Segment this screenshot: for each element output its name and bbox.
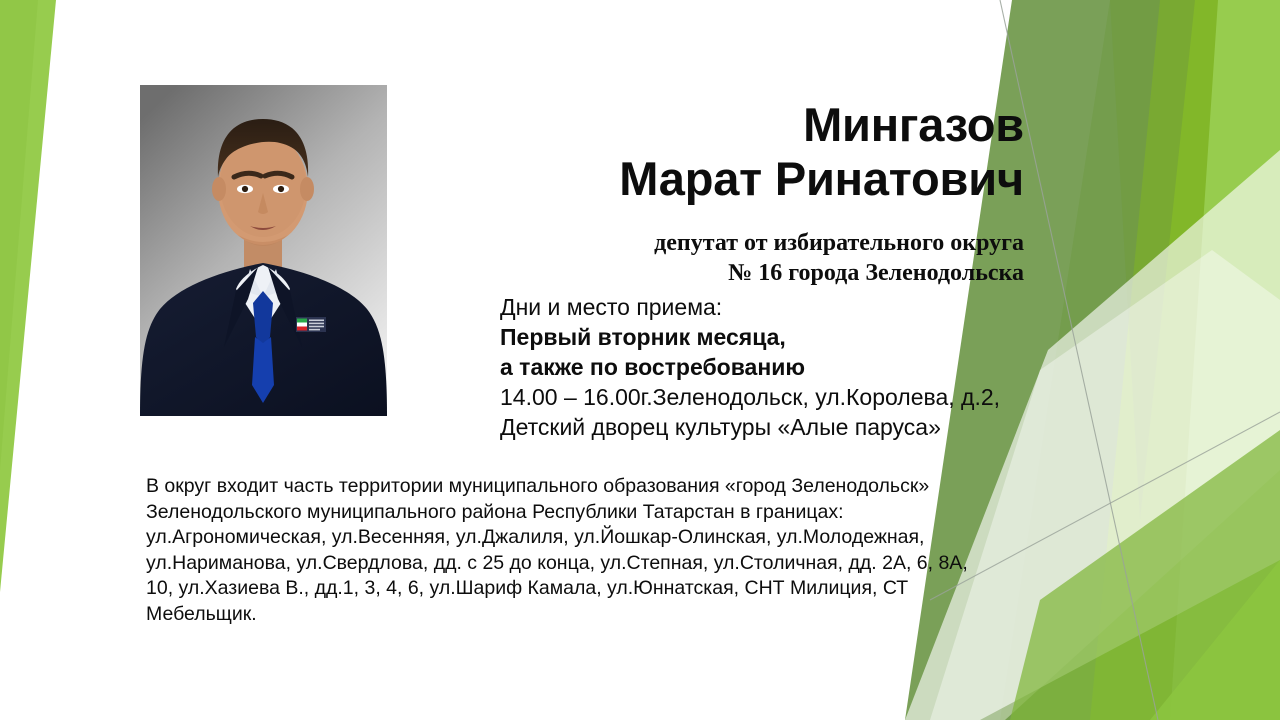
district-line: 10, ул.Хазиева В., дд.1, 3, 4, 6, ул.Шар… [146, 576, 1026, 602]
page-title: Мингазов Марат Ринатович [464, 98, 1024, 206]
right-green-foot [1150, 560, 1280, 720]
right-green-outer-band [1170, 0, 1280, 720]
subtitle-line-2: № 16 города Зеленодольска [464, 258, 1024, 288]
right-green-dark-triangle [1110, 0, 1195, 520]
reception-day-line-1: Первый вторник месяца, [500, 322, 1060, 352]
right-mid-green-slab [1010, 430, 1280, 720]
reception-heading: Дни и место приема: [500, 292, 1060, 322]
district-line: Мебельщик. [146, 602, 1026, 628]
subtitle-line-1: депутат от избирательного округа [464, 228, 1024, 258]
reception-day-line-2: а также по востребованию [500, 352, 1060, 382]
reception-info: Дни и место приема: Первый вторник месяц… [500, 292, 1060, 442]
title-surname: Мингазов [464, 98, 1024, 152]
district-line: Зеленодольского муниципального района Ре… [146, 500, 1026, 526]
district-description: В округ входит часть территории муниципа… [146, 474, 1026, 627]
reception-time-place: 14.00 – 16.00г.Зеленодольск, ул.Королева… [500, 382, 1060, 412]
left-green-wedge [0, 0, 56, 592]
district-line: В округ входит часть территории муниципа… [146, 474, 1026, 500]
district-line: ул.Агрономическая, ул.Весенняя, ул.Джали… [146, 525, 1026, 551]
left-green-wedge-inner [0, 0, 38, 470]
deputy-badge [296, 317, 326, 332]
portrait-photo [140, 85, 387, 416]
reception-venue: Детский дворец культуры «Алые паруса» [500, 412, 1060, 442]
slide-canvas: Мингазов Марат Ринатович депутат от изби… [0, 0, 1280, 720]
district-line: ул.Нариманова, ул.Свердлова, дд. с 25 до… [146, 551, 1026, 577]
title-given-name: Марат Ринатович [464, 152, 1024, 206]
subtitle: депутат от избирательного округа № 16 го… [464, 228, 1024, 288]
